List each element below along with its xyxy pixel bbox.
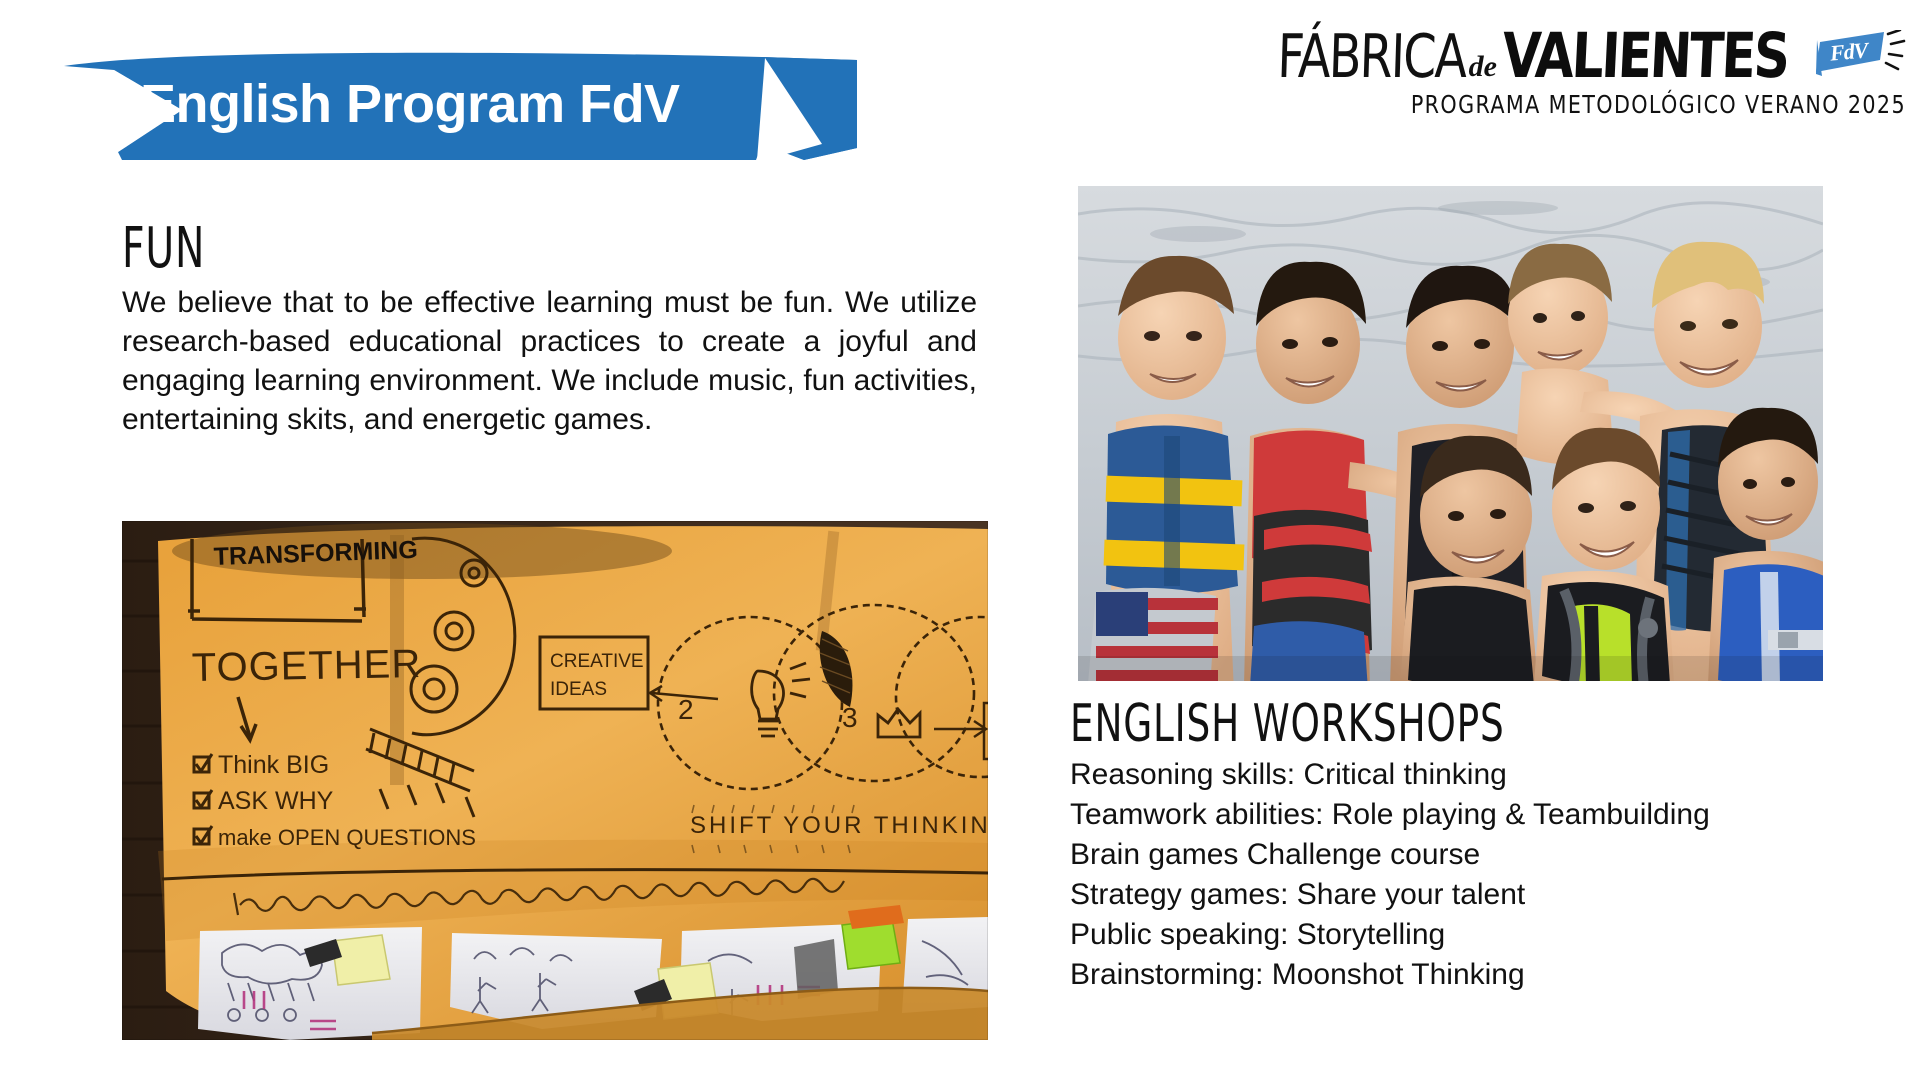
logo-subtitle: PROGRAMA METODOLÓGICO VERANO 2025 [1391,90,1906,119]
svg-text:ASK WHY: ASK WHY [218,787,334,815]
poster-photo: TRANSFORMING TOGETHER Think BIG ASK WHY … [122,521,988,1040]
workshops-list: Reasoning skills: Critical thinking Team… [1070,755,1900,994]
list-item: Reasoning skills: Critical thinking [1070,755,1900,795]
svg-text:TOGETHER: TOGETHER [191,642,421,690]
list-item: Brain games Challenge course [1070,835,1900,875]
logo-wordmark: FÁBRICA de VALIENTES FdV [1346,8,1906,86]
svg-text:make OPEN QUESTIONS: make OPEN QUESTIONS [218,825,476,850]
workshops-heading: ENGLISH WORKSHOPS [1070,700,1734,749]
group-photo-illustration [1078,186,1823,681]
workshops-section: ENGLISH WORKSHOPS Reasoning skills: Crit… [1070,700,1900,995]
fun-section: FUN We believe that to be effective lear… [122,222,992,469]
svg-text:2: 2 [678,694,694,725]
group-photo [1078,186,1823,681]
fun-body-text: We believe that to be effective learning… [122,283,977,439]
page-title: English Program FdV [140,73,680,135]
brand-logo: FÁBRICA de VALIENTES FdV PROGRAMA METODO… [1346,8,1906,119]
poster-photo-illustration: TRANSFORMING TOGETHER Think BIG ASK WHY … [122,521,988,1040]
logo-de-text: de [1469,52,1497,82]
logo-fabrica-text: FÁBRICA [1277,29,1467,86]
list-item: Public speaking: Storytelling [1070,915,1900,955]
logo-flag-icon: FdV [1814,30,1906,76]
svg-text:Think BIG: Think BIG [218,751,329,779]
svg-text:CREATIVE: CREATIVE [550,651,644,672]
logo-flag-text: FdV [1829,37,1868,66]
fun-heading: FUN [122,222,801,275]
page-title-banner: English Program FdV [62,48,857,160]
svg-text:SHIFT YOUR THINKING: SHIFT YOUR THINKING [690,812,988,839]
list-item: Strategy games: Share your talent [1070,875,1900,915]
logo-valientes-text: VALIENTES [1501,27,1789,86]
svg-text:IDEAS: IDEAS [550,679,607,700]
list-item: Teamwork abilities: Role playing & Teamb… [1070,795,1900,835]
list-item: Brainstorming: Moonshot Thinking [1070,955,1900,995]
